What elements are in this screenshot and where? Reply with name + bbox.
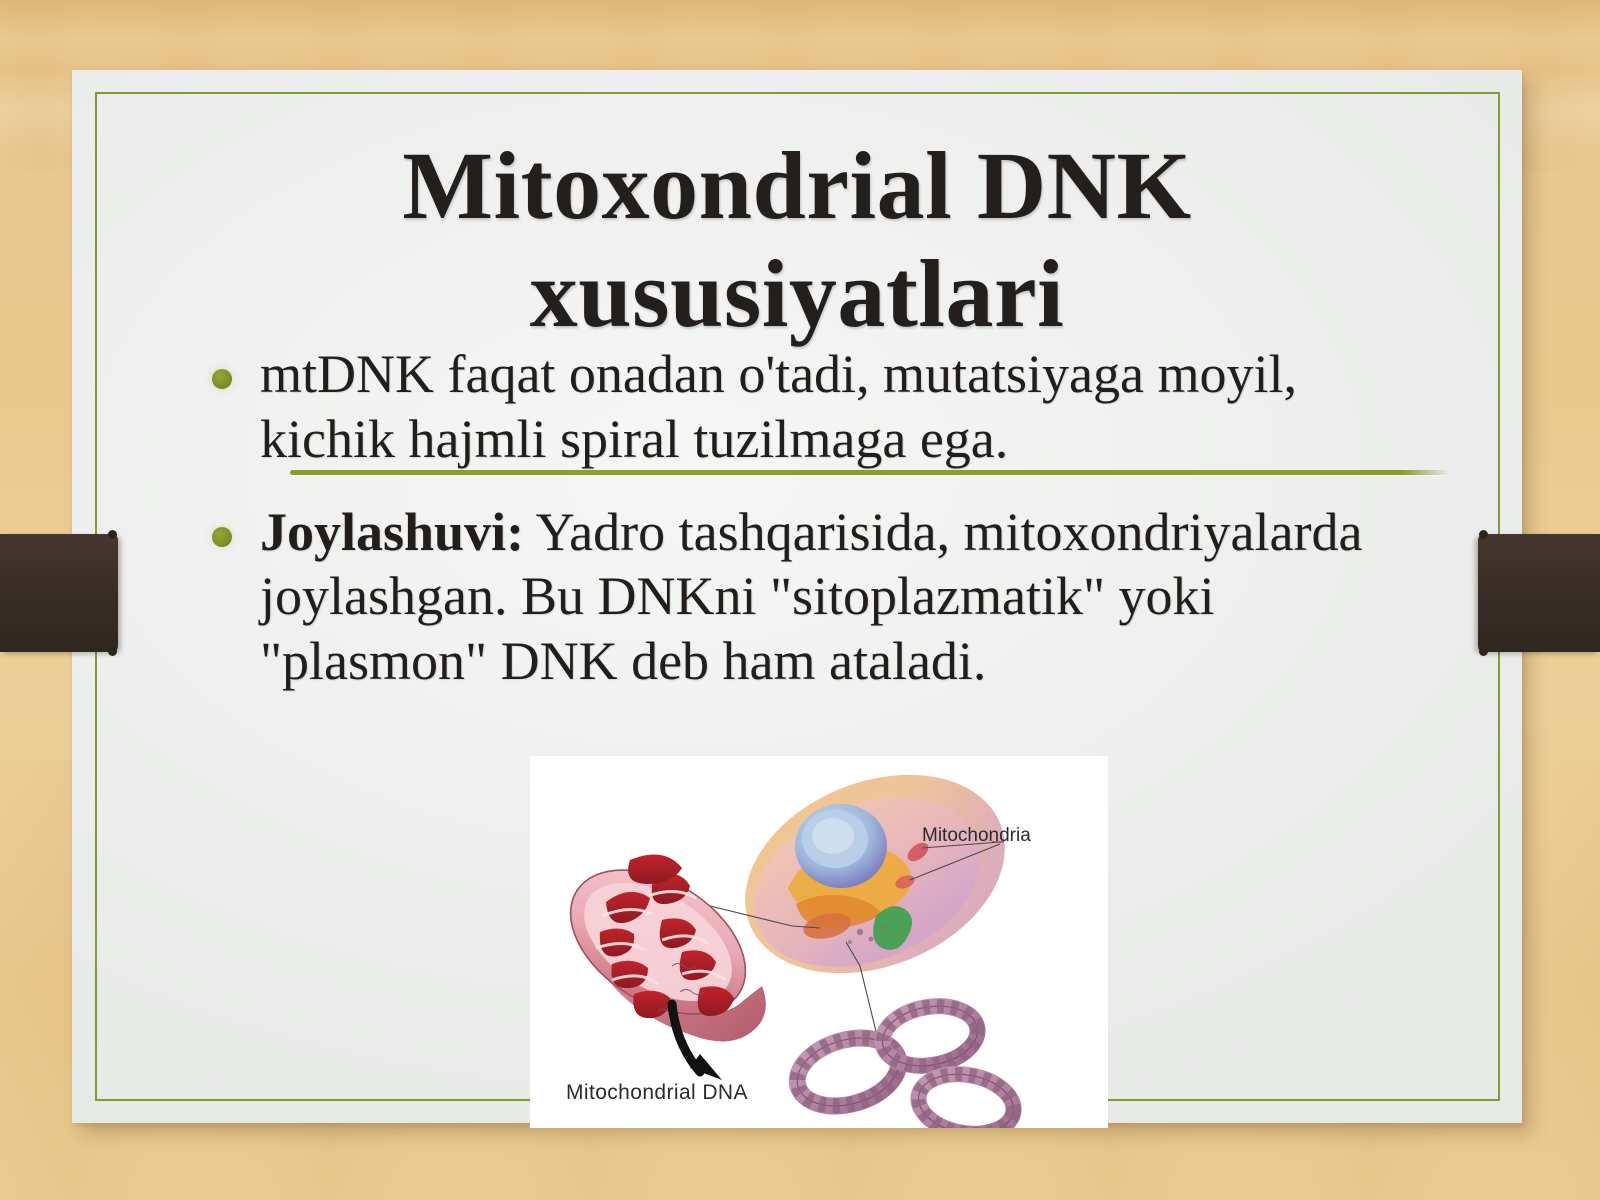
bullet-lead-label: Joylashuvi: <box>260 502 524 562</box>
list-item: Joylashuvi: Yadro tashqarisida, mitoxond… <box>212 500 1437 694</box>
diagram-label-mitochondria: Mitochondria <box>922 825 1031 847</box>
clip-knob-icon <box>1479 530 1488 539</box>
diagram-label-mitochondrial-dna: Mitochondrial DNA <box>566 1081 748 1105</box>
bullet-text: Joylashuvi: Yadro tashqarisida, mitoxond… <box>260 500 1437 694</box>
bullet-dot-icon <box>212 369 232 389</box>
bullet-dot-icon <box>212 527 232 547</box>
bullet-body: mtDNK faqat onadan o'tadi, mutatsiyaga m… <box>260 344 1297 469</box>
mitochondria-diagram-svg <box>530 756 1108 1128</box>
list-item: mtDNK faqat onadan o'tadi, mutatsiyaga m… <box>212 342 1437 472</box>
page-title: Mitoxondrial DNK xususiyatlari <box>162 132 1432 347</box>
binder-clip-left <box>0 534 118 652</box>
mitochondria-diagram-image: Mitochondria Mitochondrial DNA <box>530 756 1108 1128</box>
bullet-list: mtDNK faqat onadan o'tadi, mutatsiyaga m… <box>212 342 1437 722</box>
bullet-text: mtDNK faqat onadan o'tadi, mutatsiyaga m… <box>260 342 1437 472</box>
clip-knob-icon <box>108 530 117 539</box>
presentation-slide: Mitoxondrial DNK xususiyatlari mtDNK faq… <box>72 70 1522 1123</box>
binder-clip-right <box>1478 534 1600 652</box>
clip-knob-icon <box>1479 647 1488 656</box>
clip-knob-icon <box>108 647 117 656</box>
